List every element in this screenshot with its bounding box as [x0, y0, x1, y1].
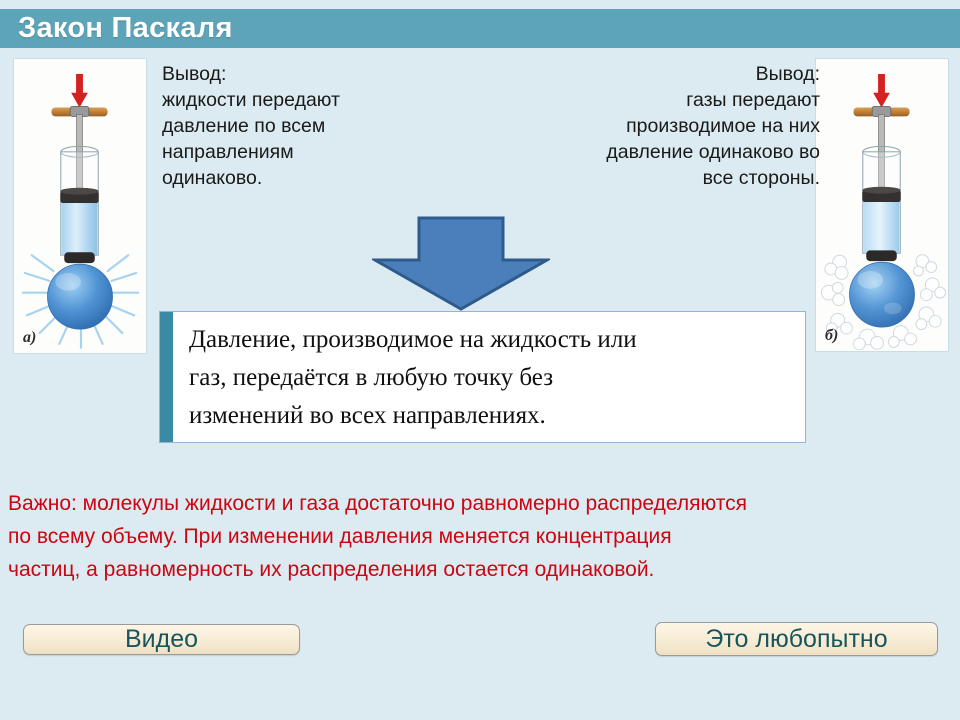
pressure-arrow-icon: [873, 74, 890, 107]
title-banner: Закон Паскаля: [0, 9, 960, 48]
conclusion-liquids-text: Вывод: жидкости передают давление по все…: [162, 61, 452, 191]
curious-button[interactable]: Это любопытно: [655, 622, 938, 656]
pressure-arrow-icon: [71, 74, 88, 107]
video-button[interactable]: Видео: [23, 624, 300, 655]
arrow-down-icon: [372, 216, 550, 312]
figure-right-gas: б): [815, 58, 949, 352]
syringe-gas-sphere-illustration: [816, 59, 948, 351]
figure-left-caption: а): [23, 329, 36, 347]
slide-root: Закон Паскаля: [0, 0, 960, 720]
figure-right-caption: б): [825, 327, 838, 345]
statement-accent-bar: [160, 312, 173, 442]
pascal-law-statement-box: Давление, производимое на жидкость или г…: [159, 311, 806, 443]
conclusion-gases-text: Вывод: газы передают производимое на них…: [500, 61, 820, 191]
page-title: Закон Паскаля: [0, 12, 233, 45]
figure-left-liquid: а): [13, 58, 147, 354]
syringe-water-sphere-illustration: [14, 59, 146, 353]
pascal-law-statement-text: Давление, производимое на жидкость или г…: [173, 312, 805, 442]
important-note-text: Важно: молекулы жидкости и газа достаточ…: [8, 487, 952, 586]
